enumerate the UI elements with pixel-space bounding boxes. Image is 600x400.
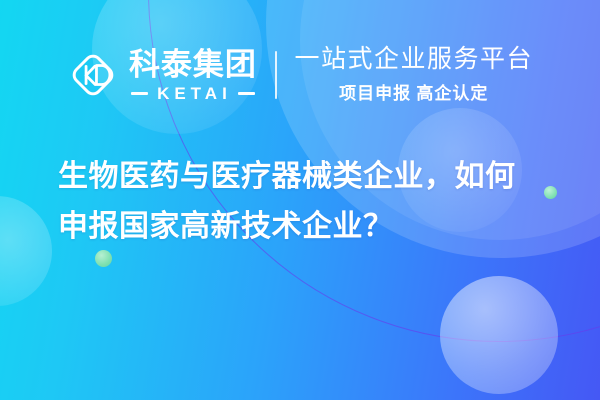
sphere-bottom-right-decoration <box>440 276 558 394</box>
headline-line-1: 生物医药与医疗器械类企业，如何 <box>58 152 558 202</box>
brand-lockup: 科泰集团 KETAI <box>67 49 257 102</box>
promo-banner: 科泰集团 KETAI 一站式企业服务平台 项目申报 高企认定 生物医药与医疗器械… <box>0 0 600 400</box>
slogan-block: 一站式企业服务平台 项目申报 高企认定 <box>295 46 534 105</box>
dot-green-left-decoration <box>95 250 112 267</box>
header-divider <box>275 51 277 99</box>
brand-wordmark: 科泰集团 KETAI <box>129 49 257 102</box>
slogan-main: 一站式企业服务平台 <box>295 46 534 74</box>
ketai-diamond-kd-logo-icon <box>67 49 119 101</box>
brand-rule-right-icon <box>238 92 255 95</box>
brand-name-cn: 科泰集团 <box>129 49 257 80</box>
brand-name-en: KETAI <box>154 85 232 102</box>
headline-line-2: 申报国家高新技术企业？ <box>58 202 558 252</box>
slogan-sub: 项目申报 高企认定 <box>339 79 488 104</box>
banner-header: 科泰集团 KETAI 一站式企业服务平台 项目申报 高企认定 <box>0 36 600 114</box>
circle-bottom-left-decoration <box>0 196 52 306</box>
brand-name-en-row: KETAI <box>131 85 255 102</box>
headline-block: 生物医药与医疗器械类企业，如何 申报国家高新技术企业？ <box>58 152 558 252</box>
brand-rule-left-icon <box>131 92 148 95</box>
